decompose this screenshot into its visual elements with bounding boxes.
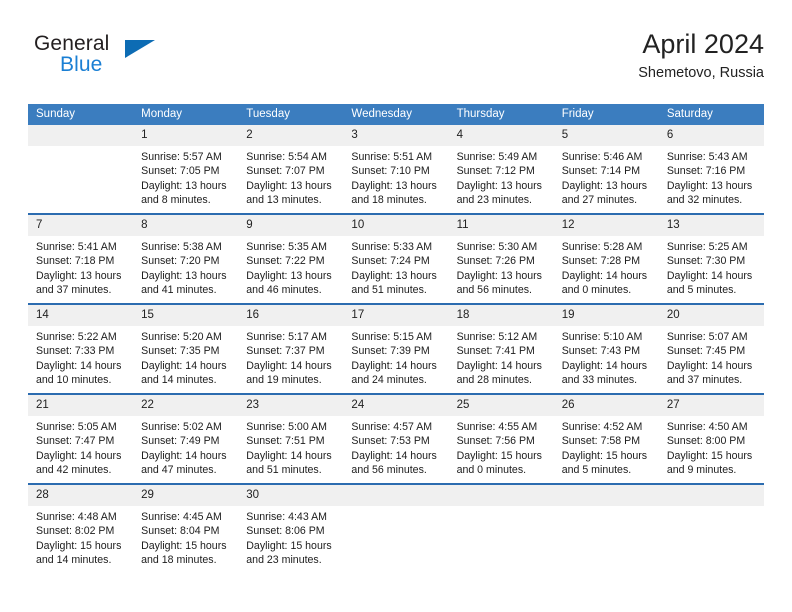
daylight-text-line2: and 56 minutes. <box>351 463 442 477</box>
day-details <box>28 146 133 150</box>
daylight-text-line2: and 14 minutes. <box>141 373 232 387</box>
sunset-text: Sunset: 7:49 PM <box>141 434 232 448</box>
daylight-text-line2: and 18 minutes. <box>141 553 232 567</box>
day-number: 30 <box>238 485 343 506</box>
day-details: Sunrise: 5:12 AM Sunset: 7:41 PM Dayligh… <box>449 326 554 388</box>
day-details: Sunrise: 5:43 AM Sunset: 7:16 PM Dayligh… <box>659 146 764 208</box>
day-cell[interactable]: 21 Sunrise: 5:05 AM Sunset: 7:47 PM Dayl… <box>28 394 133 484</box>
day-details: Sunrise: 5:15 AM Sunset: 7:39 PM Dayligh… <box>343 326 448 388</box>
day-number: 8 <box>133 215 238 236</box>
sunset-text: Sunset: 7:45 PM <box>667 344 758 358</box>
day-cell[interactable]: 6 Sunrise: 5:43 AM Sunset: 7:16 PM Dayli… <box>659 125 764 214</box>
daylight-text-line2: and 0 minutes. <box>457 463 548 477</box>
daylight-text-line1: Daylight: 14 hours <box>667 359 758 373</box>
day-number <box>449 485 554 506</box>
daylight-text-line1: Daylight: 13 hours <box>141 269 232 283</box>
sunrise-text: Sunrise: 5:02 AM <box>141 420 232 434</box>
daylight-text-line1: Daylight: 14 hours <box>351 449 442 463</box>
day-cell[interactable]: 12 Sunrise: 5:28 AM Sunset: 7:28 PM Dayl… <box>554 214 659 304</box>
day-number: 27 <box>659 395 764 416</box>
day-details: Sunrise: 5:07 AM Sunset: 7:45 PM Dayligh… <box>659 326 764 388</box>
day-details: Sunrise: 4:55 AM Sunset: 7:56 PM Dayligh… <box>449 416 554 478</box>
day-cell[interactable]: 26 Sunrise: 4:52 AM Sunset: 7:58 PM Dayl… <box>554 394 659 484</box>
day-details: Sunrise: 4:52 AM Sunset: 7:58 PM Dayligh… <box>554 416 659 478</box>
daylight-text-line2: and 5 minutes. <box>562 463 653 477</box>
daylight-text-line1: Daylight: 13 hours <box>36 269 127 283</box>
day-details: Sunrise: 5:35 AM Sunset: 7:22 PM Dayligh… <box>238 236 343 298</box>
sunrise-text: Sunrise: 5:35 AM <box>246 240 337 254</box>
daylight-text-line1: Daylight: 13 hours <box>246 269 337 283</box>
sunrise-text: Sunrise: 5:17 AM <box>246 330 337 344</box>
day-cell[interactable]: 27 Sunrise: 4:50 AM Sunset: 8:00 PM Dayl… <box>659 394 764 484</box>
day-number <box>343 485 448 506</box>
sunset-text: Sunset: 8:00 PM <box>667 434 758 448</box>
day-details: Sunrise: 4:48 AM Sunset: 8:02 PM Dayligh… <box>28 506 133 568</box>
daylight-text-line2: and 37 minutes. <box>36 283 127 297</box>
day-details: Sunrise: 5:28 AM Sunset: 7:28 PM Dayligh… <box>554 236 659 298</box>
day-cell[interactable]: 25 Sunrise: 4:55 AM Sunset: 7:56 PM Dayl… <box>449 394 554 484</box>
day-details: Sunrise: 5:33 AM Sunset: 7:24 PM Dayligh… <box>343 236 448 298</box>
day-number: 9 <box>238 215 343 236</box>
daylight-text-line1: Daylight: 14 hours <box>457 359 548 373</box>
sunrise-text: Sunrise: 5:20 AM <box>141 330 232 344</box>
day-cell[interactable]: 5 Sunrise: 5:46 AM Sunset: 7:14 PM Dayli… <box>554 125 659 214</box>
calendar-page: General Blue April 2024 Shemetovo, Russi… <box>0 0 792 612</box>
day-number <box>659 485 764 506</box>
calendar-table: Sunday Monday Tuesday Wednesday Thursday… <box>28 104 764 573</box>
day-cell[interactable] <box>343 484 448 573</box>
day-cell[interactable]: 8 Sunrise: 5:38 AM Sunset: 7:20 PM Dayli… <box>133 214 238 304</box>
day-cell[interactable]: 14 Sunrise: 5:22 AM Sunset: 7:33 PM Dayl… <box>28 304 133 394</box>
daylight-text-line2: and 13 minutes. <box>246 193 337 207</box>
general-blue-logo[interactable]: General Blue <box>28 32 278 88</box>
week-row: 7 Sunrise: 5:41 AM Sunset: 7:18 PM Dayli… <box>28 214 764 304</box>
sunset-text: Sunset: 7:05 PM <box>141 164 232 178</box>
day-details: Sunrise: 5:20 AM Sunset: 7:35 PM Dayligh… <box>133 326 238 388</box>
day-details: Sunrise: 4:43 AM Sunset: 8:06 PM Dayligh… <box>238 506 343 568</box>
day-details: Sunrise: 4:57 AM Sunset: 7:53 PM Dayligh… <box>343 416 448 478</box>
daylight-text-line2: and 32 minutes. <box>667 193 758 207</box>
sunset-text: Sunset: 8:04 PM <box>141 524 232 538</box>
day-cell[interactable]: 24 Sunrise: 4:57 AM Sunset: 7:53 PM Dayl… <box>343 394 448 484</box>
day-cell[interactable]: 20 Sunrise: 5:07 AM Sunset: 7:45 PM Dayl… <box>659 304 764 394</box>
daylight-text-line1: Daylight: 13 hours <box>351 269 442 283</box>
daylight-text-line1: Daylight: 13 hours <box>457 269 548 283</box>
daylight-text-line2: and 23 minutes. <box>457 193 548 207</box>
daylight-text-line2: and 27 minutes. <box>562 193 653 207</box>
sunrise-text: Sunrise: 5:10 AM <box>562 330 653 344</box>
day-details <box>449 506 554 510</box>
day-number: 20 <box>659 305 764 326</box>
daylight-text-line2: and 33 minutes. <box>562 373 653 387</box>
sunset-text: Sunset: 7:41 PM <box>457 344 548 358</box>
sunset-text: Sunset: 7:26 PM <box>457 254 548 268</box>
sunrise-text: Sunrise: 5:00 AM <box>246 420 337 434</box>
day-details: Sunrise: 5:05 AM Sunset: 7:47 PM Dayligh… <box>28 416 133 478</box>
weekday-header-monday: Monday <box>133 104 238 125</box>
day-cell[interactable]: 23 Sunrise: 5:00 AM Sunset: 7:51 PM Dayl… <box>238 394 343 484</box>
day-number: 7 <box>28 215 133 236</box>
day-details: Sunrise: 5:51 AM Sunset: 7:10 PM Dayligh… <box>343 146 448 208</box>
day-cell[interactable]: 16 Sunrise: 5:17 AM Sunset: 7:37 PM Dayl… <box>238 304 343 394</box>
daylight-text-line1: Daylight: 15 hours <box>36 539 127 553</box>
day-details: Sunrise: 5:00 AM Sunset: 7:51 PM Dayligh… <box>238 416 343 478</box>
daylight-text-line1: Daylight: 15 hours <box>457 449 548 463</box>
sunset-text: Sunset: 7:58 PM <box>562 434 653 448</box>
day-cell[interactable]: 11 Sunrise: 5:30 AM Sunset: 7:26 PM Dayl… <box>449 214 554 304</box>
sunrise-text: Sunrise: 5:30 AM <box>457 240 548 254</box>
daylight-text-line1: Daylight: 14 hours <box>562 269 653 283</box>
sunset-text: Sunset: 7:24 PM <box>351 254 442 268</box>
sunrise-text: Sunrise: 5:22 AM <box>36 330 127 344</box>
day-details: Sunrise: 5:02 AM Sunset: 7:49 PM Dayligh… <box>133 416 238 478</box>
weekday-header-tuesday: Tuesday <box>238 104 343 125</box>
day-cell[interactable]: 18 Sunrise: 5:12 AM Sunset: 7:41 PM Dayl… <box>449 304 554 394</box>
day-cell[interactable]: 3 Sunrise: 5:51 AM Sunset: 7:10 PM Dayli… <box>343 125 448 214</box>
sunrise-text: Sunrise: 4:50 AM <box>667 420 758 434</box>
weekday-header-saturday: Saturday <box>659 104 764 125</box>
day-number: 1 <box>133 125 238 146</box>
daylight-text-line2: and 5 minutes. <box>667 283 758 297</box>
daylight-text-line2: and 9 minutes. <box>667 463 758 477</box>
day-number: 18 <box>449 305 554 326</box>
sunrise-text: Sunrise: 5:54 AM <box>246 150 337 164</box>
weekday-header-row: Sunday Monday Tuesday Wednesday Thursday… <box>28 104 764 125</box>
day-number: 4 <box>449 125 554 146</box>
day-cell[interactable]: 17 Sunrise: 5:15 AM Sunset: 7:39 PM Dayl… <box>343 304 448 394</box>
sunrise-text: Sunrise: 5:49 AM <box>457 150 548 164</box>
day-number: 16 <box>238 305 343 326</box>
sunrise-text: Sunrise: 5:46 AM <box>562 150 653 164</box>
day-details <box>659 506 764 510</box>
daylight-text-line1: Daylight: 14 hours <box>667 269 758 283</box>
sunset-text: Sunset: 7:56 PM <box>457 434 548 448</box>
daylight-text-line1: Daylight: 15 hours <box>562 449 653 463</box>
day-cell[interactable]: 13 Sunrise: 5:25 AM Sunset: 7:30 PM Dayl… <box>659 214 764 304</box>
logo-triangle-icon <box>125 40 155 58</box>
day-cell[interactable]: 2 Sunrise: 5:54 AM Sunset: 7:07 PM Dayli… <box>238 125 343 214</box>
day-number: 2 <box>238 125 343 146</box>
day-cell[interactable]: 10 Sunrise: 5:33 AM Sunset: 7:24 PM Dayl… <box>343 214 448 304</box>
day-details: Sunrise: 4:50 AM Sunset: 8:00 PM Dayligh… <box>659 416 764 478</box>
daylight-text-line2: and 41 minutes. <box>141 283 232 297</box>
day-number: 28 <box>28 485 133 506</box>
day-number: 12 <box>554 215 659 236</box>
sunset-text: Sunset: 7:39 PM <box>351 344 442 358</box>
sunrise-text: Sunrise: 5:41 AM <box>36 240 127 254</box>
day-cell[interactable] <box>28 125 133 214</box>
sunset-text: Sunset: 7:33 PM <box>36 344 127 358</box>
daylight-text-line2: and 18 minutes. <box>351 193 442 207</box>
daylight-text-line2: and 46 minutes. <box>246 283 337 297</box>
sunrise-text: Sunrise: 5:33 AM <box>351 240 442 254</box>
day-cell[interactable]: 1 Sunrise: 5:57 AM Sunset: 7:05 PM Dayli… <box>133 125 238 214</box>
day-details: Sunrise: 4:45 AM Sunset: 8:04 PM Dayligh… <box>133 506 238 568</box>
sunset-text: Sunset: 7:43 PM <box>562 344 653 358</box>
weekday-header-thursday: Thursday <box>449 104 554 125</box>
sunset-text: Sunset: 8:02 PM <box>36 524 127 538</box>
day-number: 23 <box>238 395 343 416</box>
sunrise-text: Sunrise: 5:25 AM <box>667 240 758 254</box>
sunrise-text: Sunrise: 4:45 AM <box>141 510 232 524</box>
day-number: 24 <box>343 395 448 416</box>
daylight-text-line2: and 37 minutes. <box>667 373 758 387</box>
sunset-text: Sunset: 7:12 PM <box>457 164 548 178</box>
day-cell[interactable]: 7 Sunrise: 5:41 AM Sunset: 7:18 PM Dayli… <box>28 214 133 304</box>
weekday-header-friday: Friday <box>554 104 659 125</box>
weekday-header-wednesday: Wednesday <box>343 104 448 125</box>
day-details: Sunrise: 5:22 AM Sunset: 7:33 PM Dayligh… <box>28 326 133 388</box>
sunset-text: Sunset: 8:06 PM <box>246 524 337 538</box>
day-details: Sunrise: 5:38 AM Sunset: 7:20 PM Dayligh… <box>133 236 238 298</box>
sunset-text: Sunset: 7:37 PM <box>246 344 337 358</box>
day-cell[interactable]: 9 Sunrise: 5:35 AM Sunset: 7:22 PM Dayli… <box>238 214 343 304</box>
day-number: 19 <box>554 305 659 326</box>
daylight-text-line1: Daylight: 15 hours <box>667 449 758 463</box>
week-row: 14 Sunrise: 5:22 AM Sunset: 7:33 PM Dayl… <box>28 304 764 394</box>
sunrise-text: Sunrise: 5:15 AM <box>351 330 442 344</box>
daylight-text-line1: Daylight: 14 hours <box>246 449 337 463</box>
daylight-text-line1: Daylight: 13 hours <box>351 179 442 193</box>
daylight-text-line1: Daylight: 15 hours <box>246 539 337 553</box>
sunset-text: Sunset: 7:10 PM <box>351 164 442 178</box>
daylight-text-line2: and 19 minutes. <box>246 373 337 387</box>
day-number <box>554 485 659 506</box>
daylight-text-line2: and 56 minutes. <box>457 283 548 297</box>
sunrise-text: Sunrise: 5:12 AM <box>457 330 548 344</box>
calendar-body: 1 Sunrise: 5:57 AM Sunset: 7:05 PM Dayli… <box>28 125 764 573</box>
day-details: Sunrise: 5:30 AM Sunset: 7:26 PM Dayligh… <box>449 236 554 298</box>
daylight-text-line1: Daylight: 14 hours <box>141 449 232 463</box>
day-number: 26 <box>554 395 659 416</box>
day-cell[interactable] <box>659 484 764 573</box>
day-details: Sunrise: 5:41 AM Sunset: 7:18 PM Dayligh… <box>28 236 133 298</box>
daylight-text-line1: Daylight: 13 hours <box>667 179 758 193</box>
day-cell[interactable]: 28 Sunrise: 4:48 AM Sunset: 8:02 PM Dayl… <box>28 484 133 573</box>
daylight-text-line1: Daylight: 14 hours <box>141 359 232 373</box>
sunrise-text: Sunrise: 4:55 AM <box>457 420 548 434</box>
day-number: 6 <box>659 125 764 146</box>
sunrise-text: Sunrise: 5:43 AM <box>667 150 758 164</box>
daylight-text-line1: Daylight: 13 hours <box>141 179 232 193</box>
sunrise-text: Sunrise: 4:48 AM <box>36 510 127 524</box>
sunrise-text: Sunrise: 5:51 AM <box>351 150 442 164</box>
day-cell[interactable]: 22 Sunrise: 5:02 AM Sunset: 7:49 PM Dayl… <box>133 394 238 484</box>
daylight-text-line2: and 42 minutes. <box>36 463 127 477</box>
day-details: Sunrise: 5:17 AM Sunset: 7:37 PM Dayligh… <box>238 326 343 388</box>
daylight-text-line1: Daylight: 13 hours <box>246 179 337 193</box>
day-number <box>28 125 133 146</box>
day-cell[interactable] <box>449 484 554 573</box>
day-cell[interactable]: 4 Sunrise: 5:49 AM Sunset: 7:12 PM Dayli… <box>449 125 554 214</box>
day-number: 17 <box>343 305 448 326</box>
sunset-text: Sunset: 7:16 PM <box>667 164 758 178</box>
week-row: 28 Sunrise: 4:48 AM Sunset: 8:02 PM Dayl… <box>28 484 764 573</box>
day-number: 21 <box>28 395 133 416</box>
sunset-text: Sunset: 7:14 PM <box>562 164 653 178</box>
weekday-header-sunday: Sunday <box>28 104 133 125</box>
day-cell[interactable]: 29 Sunrise: 4:45 AM Sunset: 8:04 PM Dayl… <box>133 484 238 573</box>
daylight-text-line2: and 47 minutes. <box>141 463 232 477</box>
sunrise-text: Sunrise: 4:57 AM <box>351 420 442 434</box>
daylight-text-line2: and 14 minutes. <box>36 553 127 567</box>
day-number: 15 <box>133 305 238 326</box>
daylight-text-line2: and 24 minutes. <box>351 373 442 387</box>
day-number: 13 <box>659 215 764 236</box>
day-details: Sunrise: 5:54 AM Sunset: 7:07 PM Dayligh… <box>238 146 343 208</box>
sunset-text: Sunset: 7:22 PM <box>246 254 337 268</box>
day-number: 10 <box>343 215 448 236</box>
day-details: Sunrise: 5:49 AM Sunset: 7:12 PM Dayligh… <box>449 146 554 208</box>
daylight-text-line1: Daylight: 13 hours <box>457 179 548 193</box>
day-number: 5 <box>554 125 659 146</box>
daylight-text-line2: and 23 minutes. <box>246 553 337 567</box>
daylight-text-line2: and 0 minutes. <box>562 283 653 297</box>
day-number: 25 <box>449 395 554 416</box>
day-number: 14 <box>28 305 133 326</box>
daylight-text-line2: and 8 minutes. <box>141 193 232 207</box>
daylight-text-line1: Daylight: 14 hours <box>36 449 127 463</box>
day-number: 3 <box>343 125 448 146</box>
day-cell[interactable] <box>554 484 659 573</box>
sunset-text: Sunset: 7:28 PM <box>562 254 653 268</box>
day-number: 29 <box>133 485 238 506</box>
week-row: 21 Sunrise: 5:05 AM Sunset: 7:47 PM Dayl… <box>28 394 764 484</box>
day-details: Sunrise: 5:10 AM Sunset: 7:43 PM Dayligh… <box>554 326 659 388</box>
daylight-text-line1: Daylight: 14 hours <box>562 359 653 373</box>
sunrise-text: Sunrise: 5:05 AM <box>36 420 127 434</box>
sunset-text: Sunset: 7:35 PM <box>141 344 232 358</box>
daylight-text-line2: and 10 minutes. <box>36 373 127 387</box>
day-details <box>554 506 659 510</box>
day-number: 11 <box>449 215 554 236</box>
week-row: 1 Sunrise: 5:57 AM Sunset: 7:05 PM Dayli… <box>28 125 764 214</box>
day-details <box>343 506 448 510</box>
daylight-text-line2: and 51 minutes. <box>246 463 337 477</box>
sunrise-text: Sunrise: 5:28 AM <box>562 240 653 254</box>
day-cell[interactable]: 19 Sunrise: 5:10 AM Sunset: 7:43 PM Dayl… <box>554 304 659 394</box>
page-subtitle: Shemetovo, Russia <box>638 63 764 83</box>
sunrise-text: Sunrise: 5:07 AM <box>667 330 758 344</box>
sunset-text: Sunset: 7:07 PM <box>246 164 337 178</box>
sunset-text: Sunset: 7:53 PM <box>351 434 442 448</box>
daylight-text-line1: Daylight: 14 hours <box>246 359 337 373</box>
day-number: 22 <box>133 395 238 416</box>
sunset-text: Sunset: 7:47 PM <box>36 434 127 448</box>
title-block: April 2024 Shemetovo, Russia <box>638 28 764 83</box>
daylight-text-line1: Daylight: 13 hours <box>562 179 653 193</box>
daylight-text-line1: Daylight: 14 hours <box>351 359 442 373</box>
day-details: Sunrise: 5:46 AM Sunset: 7:14 PM Dayligh… <box>554 146 659 208</box>
page-title: April 2024 <box>638 28 764 60</box>
day-cell[interactable]: 30 Sunrise: 4:43 AM Sunset: 8:06 PM Dayl… <box>238 484 343 573</box>
day-cell[interactable]: 15 Sunrise: 5:20 AM Sunset: 7:35 PM Dayl… <box>133 304 238 394</box>
sunset-text: Sunset: 7:51 PM <box>246 434 337 448</box>
daylight-text-line2: and 51 minutes. <box>351 283 442 297</box>
daylight-text-line1: Daylight: 15 hours <box>141 539 232 553</box>
sunrise-text: Sunrise: 5:38 AM <box>141 240 232 254</box>
daylight-text-line1: Daylight: 14 hours <box>36 359 127 373</box>
sunset-text: Sunset: 7:30 PM <box>667 254 758 268</box>
day-details: Sunrise: 5:25 AM Sunset: 7:30 PM Dayligh… <box>659 236 764 298</box>
sunrise-text: Sunrise: 4:52 AM <box>562 420 653 434</box>
page-header: General Blue April 2024 Shemetovo, Russi… <box>28 28 764 90</box>
logo-text-blue: Blue <box>60 53 102 77</box>
day-details: Sunrise: 5:57 AM Sunset: 7:05 PM Dayligh… <box>133 146 238 208</box>
sunrise-text: Sunrise: 5:57 AM <box>141 150 232 164</box>
sunrise-text: Sunrise: 4:43 AM <box>246 510 337 524</box>
sunset-text: Sunset: 7:20 PM <box>141 254 232 268</box>
sunset-text: Sunset: 7:18 PM <box>36 254 127 268</box>
daylight-text-line2: and 28 minutes. <box>457 373 548 387</box>
